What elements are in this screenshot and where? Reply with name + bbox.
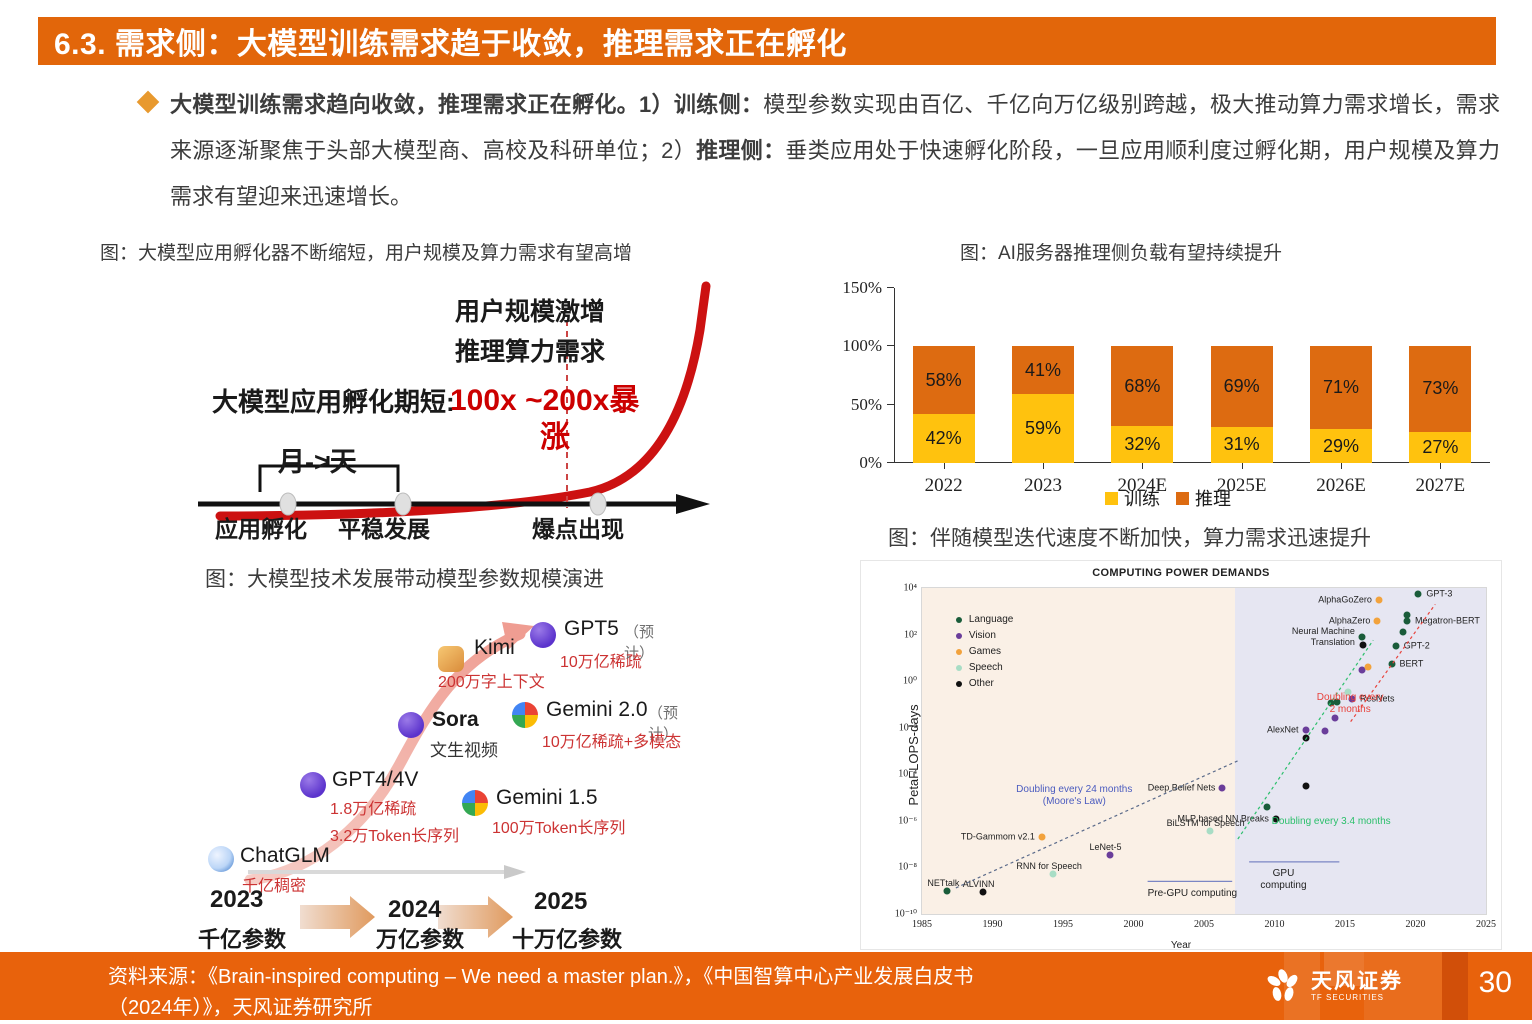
annotation-doubling-3-4: Doubling every 3.4 months — [1272, 816, 1391, 828]
bar-chart-y-label: 50% — [851, 395, 882, 415]
incubation-short-label: 大模型应用孵化期短: — [212, 382, 455, 419]
scatter-point[interactable] — [1404, 611, 1411, 618]
legend-swatch-training — [1105, 492, 1118, 505]
diamond-bullet-icon — [137, 91, 160, 114]
region-label-pre-gpu: Pre-GPU computing — [1148, 888, 1237, 900]
bullet-line2-rest: 垂类应用处 — [785, 138, 897, 163]
page-title: 6.3. 需求侧：大模型训练需求趋于收敛，推理需求正在孵化 — [54, 19, 847, 63]
scatter-point-label: AlphaZero — [1329, 615, 1371, 626]
timeline-model-name-gpt4: GPT4/4V — [332, 768, 418, 792]
timeline-model-name-sora: Sora — [432, 708, 479, 732]
bar-chart-tick — [887, 404, 894, 405]
caption-scatter: 图：伴随模型迭代速度不断加快，算力需求迅速提升 — [888, 522, 1371, 552]
bar-chart-tick — [887, 462, 894, 463]
annotation-moores-law-line1: Doubling every 24 months — [1016, 784, 1132, 796]
legend-text-language: Language — [969, 614, 1014, 625]
annotation-moores-law: Doubling every 24 months (Moore's Law) — [1016, 784, 1132, 808]
tf-securities-mark-icon — [1264, 967, 1302, 1005]
google-gemini-logo-icon — [462, 790, 488, 816]
legend-swatch-inference — [1176, 492, 1189, 505]
bar-segment-inference: 69% — [1211, 346, 1273, 426]
annotation-doubling-2: Doubling every 2 months — [1317, 692, 1384, 716]
timeline-model-sub-gemini15: 100万Token长序列 — [492, 814, 625, 838]
scatter-y-tick-label: 10² — [904, 629, 917, 640]
bar-label-inference: 73% — [1422, 378, 1458, 399]
openai-logo-icon — [300, 772, 326, 798]
bar-segment-inference: 41% — [1012, 346, 1074, 394]
bar-label-training: 27% — [1422, 437, 1458, 458]
company-name-en: TF SECURITIES — [1311, 993, 1403, 1002]
google-gemini-logo-icon — [512, 702, 538, 728]
legend-text-games: Games — [969, 646, 1001, 657]
bar-chart-x-tick — [1043, 463, 1044, 469]
scatter-y-tick-label: 10⁴ — [904, 583, 918, 594]
page-number: 30 — [1479, 966, 1512, 1000]
bar-segment-inference: 71% — [1310, 346, 1372, 429]
scatter-point-label: LeNet-5 — [1090, 842, 1122, 853]
bar-chart-x-tick — [1142, 463, 1143, 469]
company-name-cn: 天风证券 — [1311, 971, 1403, 993]
scatter-y-tick-label: 10⁰ — [903, 676, 917, 687]
scatter-point[interactable] — [1219, 785, 1226, 792]
annotation-doubling-2-line1: Doubling every — [1317, 692, 1384, 704]
scatter-point[interactable] — [1358, 633, 1365, 640]
bar-segment-inference: 58% — [913, 346, 975, 414]
scatter-x-tick-label: 2005 — [1194, 919, 1214, 930]
bar-segment-training: 42% — [913, 414, 975, 463]
bar-segment-training: 31% — [1211, 427, 1273, 463]
bar-segment-training: 27% — [1409, 432, 1471, 463]
scatter-point-label: AlexNet — [1267, 725, 1299, 736]
annotation-doubling-2-line2: 2 months — [1317, 704, 1384, 716]
company-logo: 天风证券 TF SECURITIES — [1264, 962, 1414, 1010]
scatter-point-label: RNN for Speech — [1016, 861, 1082, 872]
legend-text-vision: Vision — [969, 630, 996, 641]
bar-chart-bar[interactable]: 58%42% — [913, 346, 975, 463]
legend-label-inference: 推理 — [1195, 485, 1231, 511]
scatter-point-label: BERT — [1400, 658, 1424, 669]
bar-segment-inference: 68% — [1111, 346, 1173, 425]
inference-load-bar-chart: 58%42%41%59%68%32%69%31%71%29%73%27% 202… — [838, 288, 1498, 503]
scatter-point-label: ALVINN — [963, 879, 995, 890]
page-title-bar: 6.3. 需求侧：大模型训练需求趋于收敛，推理需求正在孵化 — [38, 17, 1496, 65]
timeline-model-name-chatglm: ChatGLM — [240, 844, 330, 868]
legend-text-speech: Speech — [969, 662, 1003, 673]
scatter-title: COMPUTING POWER DEMANDS — [861, 567, 1501, 579]
scatter-point[interactable] — [1302, 782, 1309, 789]
timeline-year-scale-2: 十万亿参数 — [512, 922, 622, 954]
scatter-y-tick-label: 10⁻⁴ — [898, 769, 917, 780]
bar-chart-tick — [887, 345, 894, 346]
scatter-y-axis-title: PetaFLOPS-days — [906, 704, 921, 805]
scatter-y-tick-label: 10⁻⁸ — [898, 862, 917, 873]
scatter-point-label: TD-Gammom v2.1 — [961, 831, 1035, 842]
scatter-x-tick-label: 1985 — [912, 919, 932, 930]
bar-label-inference: 71% — [1323, 377, 1359, 398]
scatter-x-tick-label: 2000 — [1124, 919, 1144, 930]
bar-chart-bar[interactable]: 71%29% — [1310, 346, 1372, 463]
bar-label-inference: 69% — [1224, 376, 1260, 397]
timeline-model-sub-kimi: 200万字上下文 — [438, 668, 545, 692]
scatter-point[interactable] — [1364, 664, 1371, 671]
model-parameter-timeline: ChatGLM 千亿稠密 GPT4/4V 1.8万亿稀疏 3.2万Token长序… — [190, 600, 830, 950]
timeline-year-1: 2024 — [388, 896, 441, 924]
bar-chart-x-axis — [894, 462, 1490, 464]
bar-segment-inference: 73% — [1409, 346, 1471, 431]
incubation-note-line2: 推理算力需求 — [455, 332, 605, 368]
bar-label-training: 31% — [1224, 434, 1260, 455]
scatter-x-tick-label: 2015 — [1335, 919, 1355, 930]
bar-label-inference: 41% — [1025, 360, 1061, 381]
bullet-paragraph: 大模型训练需求趋向收敛，推理需求正在孵化。1）训练侧：模型参数实现由百亿、千亿向… — [170, 82, 1500, 220]
scatter-plot-area: 10⁻¹⁰10⁻⁸10⁻⁶10⁻⁴10⁻²10⁰10²10⁴ 198519901… — [921, 587, 1487, 915]
footer-deco-square-4 — [1442, 952, 1468, 1020]
scatter-legend: Language Vision Games Speech Other — [956, 614, 1014, 694]
scatter-point[interactable] — [1388, 660, 1395, 667]
scatter-point-label: NETtalk — [927, 878, 959, 889]
timeline-axis-arrow-icon — [504, 865, 526, 879]
scatter-y-tick-label: 10⁻⁶ — [898, 815, 917, 826]
legend-dot-games — [956, 649, 962, 655]
footer-source: 资料来源：《Brain-inspired computing – We need… — [108, 962, 1248, 1024]
legend-label-training: 训练 — [1124, 485, 1160, 511]
scatter-point-label: Megatron-BERT — [1415, 615, 1480, 626]
bar-chart-bar[interactable]: 73%27% — [1409, 346, 1471, 463]
bar-label-training: 42% — [926, 428, 962, 449]
scatter-point[interactable] — [1375, 596, 1382, 603]
bar-label-training: 32% — [1124, 434, 1160, 455]
scatter-x-tick-label: 2020 — [1406, 919, 1426, 930]
bar-segment-training: 59% — [1012, 394, 1074, 463]
scatter-point[interactable] — [1264, 803, 1271, 810]
timeline-model-sub-gemini20: 10万亿稀疏+多模态 — [542, 728, 681, 752]
scatter-point-label: GPT-2 — [1404, 641, 1430, 652]
legend-text-other: Other — [969, 678, 994, 689]
scatter-point[interactable] — [1374, 617, 1381, 624]
legend-item-inference: 推理 — [1176, 485, 1231, 511]
scatter-y-tick-label: 10⁻¹⁰ — [895, 909, 917, 920]
bar-chart-plot-area: 58%42%41%59%68%32%69%31%71%29%73%27% 202… — [894, 288, 1490, 463]
scatter-point-label: Deep Belief Nets — [1148, 783, 1216, 794]
region-label-gpu: GPU computing — [1260, 868, 1306, 892]
openai-logo-icon — [398, 712, 424, 738]
bullet-block: 大模型训练需求趋向收敛，推理需求正在孵化。1）训练侧：模型参数实现由百亿、千亿向… — [140, 82, 1500, 220]
timeline-year-0: 2023 — [210, 886, 263, 914]
caption-incubation: 图：大模型应用孵化器不断缩短，用户规模及算力需求有望高增 — [100, 238, 632, 265]
region-label-gpu-line2: computing — [1260, 880, 1306, 892]
scatter-point[interactable] — [1322, 728, 1329, 735]
page-footer: 资料来源：《Brain-inspired computing – We need… — [0, 952, 1532, 1020]
bullet-line1-rest: 模型参数实现由百亿、千亿向万亿级别跨越， — [763, 92, 1210, 117]
bar-chart-bar[interactable]: 41%59% — [1012, 346, 1074, 463]
footer-source-line2: （2024年）》，天风证券研究所 — [108, 993, 1248, 1024]
incubation-stage-1: 平稳发展 — [338, 510, 430, 544]
incubation-growth-multiple-2: 涨 — [540, 412, 570, 456]
timeline-model-name-gpt5: GPT5 — [564, 617, 619, 641]
scatter-x-tick-label: 2025 — [1476, 919, 1496, 930]
bar-label-training: 59% — [1025, 418, 1061, 439]
legend-dot-language — [956, 617, 962, 623]
scatter-legend-item: Speech — [956, 662, 1014, 673]
scatter-y-tick-label: 10⁻² — [899, 722, 917, 733]
scatter-x-tick-label: 1990 — [983, 919, 1003, 930]
bar-chart-tick — [887, 287, 894, 288]
timeline-year-2: 2025 — [534, 888, 587, 916]
timeline-model-name-gemini20: Gemini 2.0 — [546, 698, 648, 722]
axis-arrow-icon — [676, 494, 710, 514]
bullet-line2-bold: 推理侧： — [696, 138, 785, 163]
scatter-point-label: GPT-3 — [1426, 588, 1452, 599]
bar-chart-x-tick — [1341, 463, 1342, 469]
bar-segment-training: 32% — [1111, 426, 1173, 463]
scatter-point[interactable] — [1360, 642, 1367, 649]
bar-chart-bar[interactable]: 68%32% — [1111, 346, 1173, 463]
scatter-x-tick-label: 2010 — [1265, 919, 1285, 930]
bar-chart-y-axis — [894, 288, 895, 463]
bar-chart-y-label: 100% — [842, 336, 882, 356]
incubation-note-line1: 用户规模激增 — [455, 292, 605, 328]
bar-chart-x-tick — [944, 463, 945, 469]
incubation-stage-0: 应用孵化 — [215, 510, 307, 544]
caption-timeline: 图：大模型技术发展带动模型参数规模演进 — [205, 563, 604, 593]
scatter-legend-item: Other — [956, 678, 1014, 689]
timeline-model-name-gemini15: Gemini 1.5 — [496, 786, 598, 810]
legend-item-training: 训练 — [1105, 485, 1160, 511]
year-chevron-1 — [300, 896, 375, 938]
bar-chart-bar[interactable]: 69%31% — [1211, 346, 1273, 463]
scatter-legend-item: Vision — [956, 630, 1014, 641]
bullet-line1-bold: 大模型训练需求趋向收敛，推理需求正在孵化。1）训练侧： — [170, 92, 763, 117]
bar-label-training: 29% — [1323, 436, 1359, 457]
timeline-year-scale-1: 万亿参数 — [376, 922, 464, 954]
computing-power-demands-chart: COMPUTING POWER DEMANDS PetaFLOPS-days 1… — [860, 560, 1502, 950]
scatter-x-tick-label: 1995 — [1053, 919, 1073, 930]
incubation-stage-2: 爆点出现 — [532, 510, 624, 544]
scatter-point-label: AlphaGoZero — [1318, 594, 1372, 605]
legend-dot-speech — [956, 665, 962, 671]
legend-dot-other — [956, 681, 962, 687]
scatter-point[interactable] — [1302, 727, 1309, 734]
company-logo-text: 天风证券 TF SECURITIES — [1311, 971, 1403, 1002]
scatter-x-axis-title: Year — [861, 940, 1501, 951]
legend-dot-vision — [956, 633, 962, 639]
footer-source-line1: 资料来源：《Brain-inspired computing – We need… — [108, 962, 1248, 993]
scatter-legend-item: Games — [956, 646, 1014, 657]
caption-barchart: 图：AI服务器推理侧负载有望持续提升 — [960, 238, 1282, 265]
timeline-model-name-kimi: Kimi — [474, 636, 515, 660]
bar-chart-x-tick — [1242, 463, 1243, 469]
scatter-point-label: Neural MachineTranslation — [1292, 626, 1355, 648]
region-label-gpu-line1: GPU — [1260, 868, 1306, 880]
bar-chart-legend: 训练 推理 — [838, 485, 1498, 511]
bar-label-inference: 58% — [926, 370, 962, 391]
scatter-point[interactable] — [1399, 629, 1406, 636]
scatter-point[interactable] — [1038, 833, 1045, 840]
chatglm-logo-icon — [208, 846, 234, 872]
timeline-model-sub-sora: 文生视频 — [430, 736, 498, 761]
incubation-month-to-day: 月->天 — [278, 440, 357, 479]
bar-label-inference: 68% — [1124, 376, 1160, 397]
timeline-year-scale-0: 千亿参数 — [198, 922, 286, 954]
timeline-model-sub-gpt5: 10万亿稀疏 — [560, 648, 642, 672]
scatter-point[interactable] — [1415, 590, 1422, 597]
scatter-point-label: MLP based NN Breaks — [1178, 813, 1269, 824]
timeline-model-sub2-gpt4: 3.2万Token长序列 — [330, 822, 459, 846]
bar-chart-y-label: 0% — [859, 453, 882, 473]
bar-chart-y-label: 150% — [842, 278, 882, 298]
incubation-diagram: 用户规模激增 推理算力需求 大模型应用孵化期短: 100x ~200x暴 涨 月… — [120, 270, 820, 550]
timeline-model-sub-gpt4: 1.8万亿稀疏 — [330, 795, 416, 819]
bar-chart-x-tick — [1440, 463, 1441, 469]
annotation-moores-law-line2: (Moore's Law) — [1016, 796, 1132, 808]
bar-segment-training: 29% — [1310, 429, 1372, 463]
scatter-legend-item: Language — [956, 614, 1014, 625]
openai-logo-icon — [530, 622, 556, 648]
scatter-point[interactable] — [1302, 735, 1309, 742]
scatter-point[interactable] — [1392, 643, 1399, 650]
